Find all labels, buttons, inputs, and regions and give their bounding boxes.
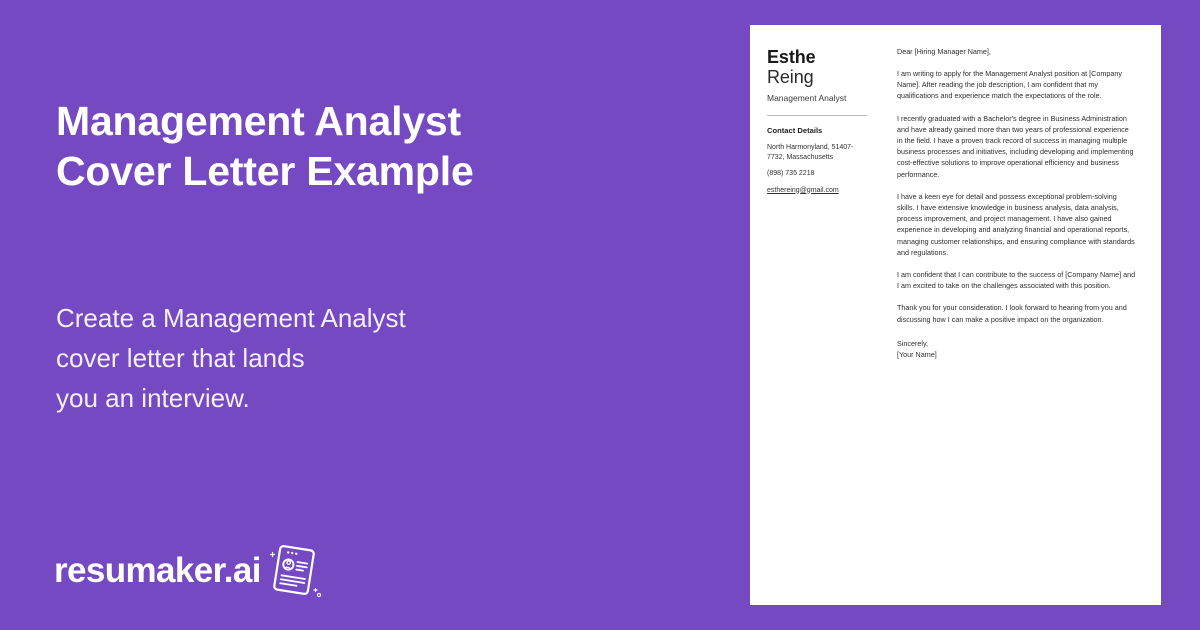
letter-signature: [Your Name]	[897, 349, 1136, 361]
letter-paragraph: I recently graduated with a Bachelor's d…	[897, 113, 1136, 180]
applicant-first-name: Esthe	[767, 47, 882, 67]
contact-email[interactable]: esthereing@gmail.com	[767, 186, 882, 196]
contact-details-heading: Contact Details	[767, 126, 882, 136]
letter-body: Dear [Hiring Manager Name], I am writing…	[882, 25, 1161, 605]
letter-paragraph: I have a keen eye for detail and possess…	[897, 191, 1136, 258]
cover-letter-preview-card[interactable]: Esthe Reing Management Analyst Contact D…	[750, 25, 1161, 605]
letter-paragraph: I am confident that I can contribute to …	[897, 269, 1136, 291]
resume-document-icon	[263, 540, 325, 600]
promo-banner: Management Analyst Cover Letter Example …	[0, 0, 1200, 630]
letter-signoff: Sincerely, [Your Name]	[897, 338, 1136, 361]
promo-subtitle: Create a Management Analyst cover letter…	[56, 298, 656, 418]
contact-phone: (898) 735 2218	[767, 169, 867, 179]
applicant-last-name: Reing	[767, 67, 882, 88]
sidebar-divider	[767, 115, 867, 116]
letter-salutation: Dear [Hiring Manager Name],	[897, 47, 1136, 57]
promo-text-panel: Management Analyst Cover Letter Example …	[0, 0, 750, 630]
applicant-job-title: Management Analyst	[767, 93, 882, 104]
contact-address: North Harmonyland, 51407-7732, Massachus…	[767, 143, 867, 162]
brand-logo[interactable]: resumaker.ai	[54, 540, 325, 600]
letter-paragraph: Thank you for your consideration. I look…	[897, 302, 1136, 324]
letter-paragraph: I am writing to apply for the Management…	[897, 68, 1136, 102]
page-title: Management Analyst Cover Letter Example	[56, 96, 676, 196]
letter-closing: Sincerely,	[897, 338, 1136, 350]
letter-sidebar: Esthe Reing Management Analyst Contact D…	[750, 25, 882, 605]
brand-logo-text: resumaker.ai	[54, 553, 261, 588]
